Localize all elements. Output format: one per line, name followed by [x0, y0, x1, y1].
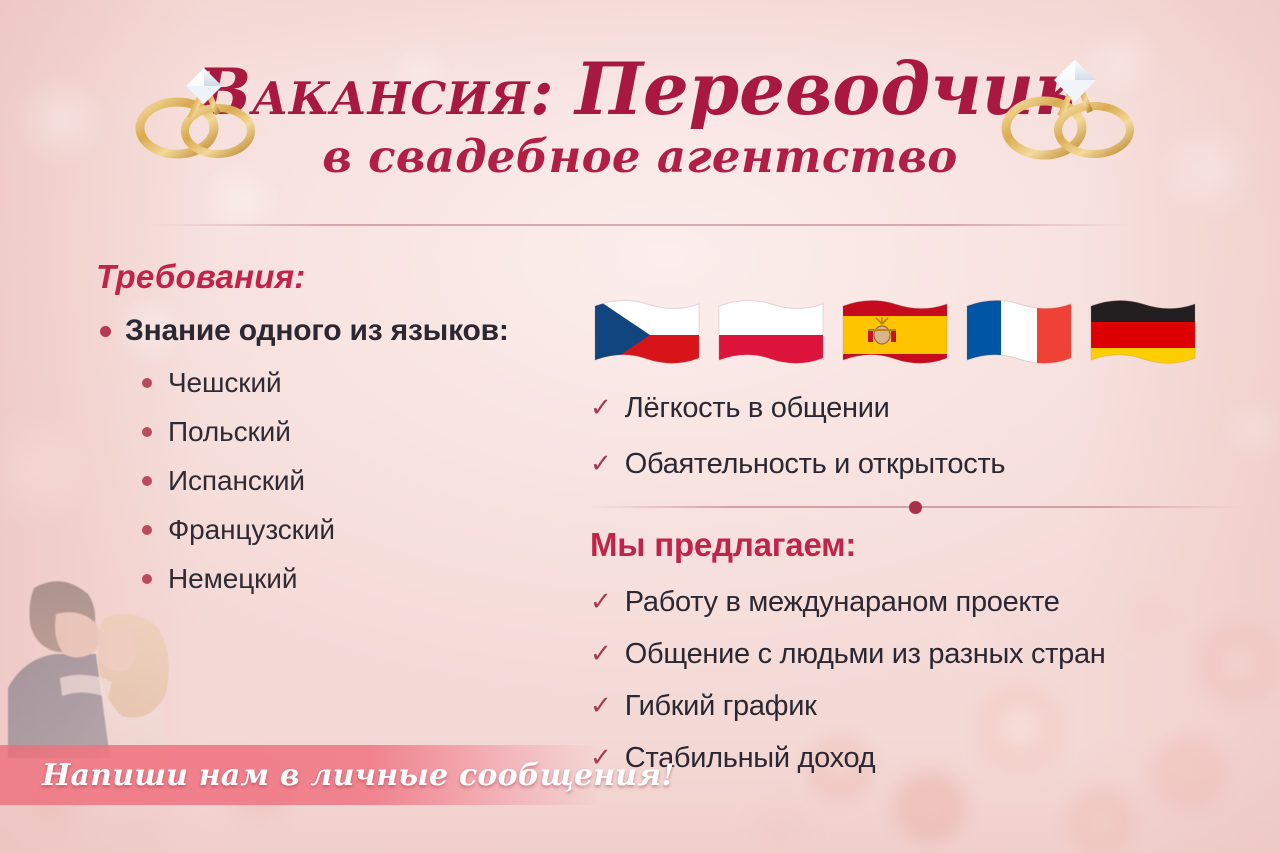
check-icon: ✓: [590, 692, 612, 718]
poland-flag-icon: [716, 296, 826, 374]
check-icon: ✓: [590, 394, 612, 420]
bullet-dot-icon: [142, 427, 152, 437]
list-item: ✓ Общение с людьми из разных стран: [590, 628, 1240, 680]
language-list: Чешский Польский Испанский Французский Н…: [142, 358, 566, 603]
list-item: Французский: [142, 505, 566, 554]
language-label: Чешский: [168, 367, 282, 399]
bullet-dot-icon: [142, 476, 152, 486]
list-item: Испанский: [142, 456, 566, 505]
offer-heading: Мы предлагаем:: [590, 526, 1240, 564]
requirements-main-bullet: Знание одного из языков:: [100, 314, 566, 348]
bullet-dot-icon: [142, 378, 152, 388]
list-item: ✓ Лёгкость в общении: [590, 380, 1240, 436]
requirements-heading: Требования:: [96, 258, 566, 296]
soft-skill-label: Обаятельность и открытость: [625, 448, 1005, 481]
flag-row: [592, 282, 1240, 374]
requirements-main-bullet-label: Знание одного из языков:: [125, 314, 509, 348]
cta-banner-label: Напиши нам в личные сообщения!: [42, 758, 675, 793]
language-label: Польский: [168, 416, 291, 448]
list-item: ✓ Гибкий график: [590, 680, 1240, 732]
poster-root: Вакансия: Переводчик в свадебное агентст…: [0, 0, 1280, 853]
list-item: Чешский: [142, 358, 566, 407]
wedding-rings-icon-right: [1000, 56, 1140, 170]
wedding-rings-icon-left: [132, 62, 260, 170]
bullet-dot-icon: [100, 326, 111, 337]
offer-list: ✓ Работу в междунараном проекте ✓ Общени…: [590, 576, 1240, 784]
offer-section: ✓ Лёгкость в общении ✓ Обаятельность и о…: [590, 282, 1240, 784]
check-icon: ✓: [590, 640, 612, 666]
check-icon: ✓: [590, 588, 612, 614]
offer-item-label: Общение с людьми из разных стран: [625, 638, 1106, 671]
header-divider: [150, 224, 1130, 226]
spain-flag-icon: [840, 296, 950, 374]
france-flag-icon: [964, 296, 1074, 374]
language-label: Испанский: [168, 465, 305, 497]
section-divider: [590, 506, 1240, 508]
czech-flag-icon: [592, 296, 702, 374]
language-label: Французский: [168, 514, 335, 546]
offer-item-label: Гибкий график: [625, 690, 817, 723]
language-label: Немецкий: [168, 563, 297, 595]
bullet-dot-icon: [142, 574, 152, 584]
requirements-section: Требования: Знание одного из языков: Чеш…: [96, 258, 566, 603]
cta-banner[interactable]: Напиши нам в личные сообщения!: [0, 745, 600, 805]
list-item: Польский: [142, 407, 566, 456]
list-item: ✓ Обаятельность и открытость: [590, 436, 1240, 492]
bullet-dot-icon: [142, 525, 152, 535]
offer-item-label: Работу в междунараном проекте: [625, 586, 1060, 619]
list-item: ✓ Работу в междунараном проекте: [590, 576, 1240, 628]
divider-dot-icon: [909, 501, 922, 514]
list-item: ✓ Стабильный доход: [590, 732, 1240, 784]
check-icon: ✓: [590, 450, 612, 476]
soft-skills-list: ✓ Лёгкость в общении ✓ Обаятельность и о…: [590, 380, 1240, 492]
germany-flag-icon: [1088, 296, 1198, 374]
list-item: Немецкий: [142, 554, 566, 603]
soft-skill-label: Лёгкость в общении: [625, 392, 890, 425]
